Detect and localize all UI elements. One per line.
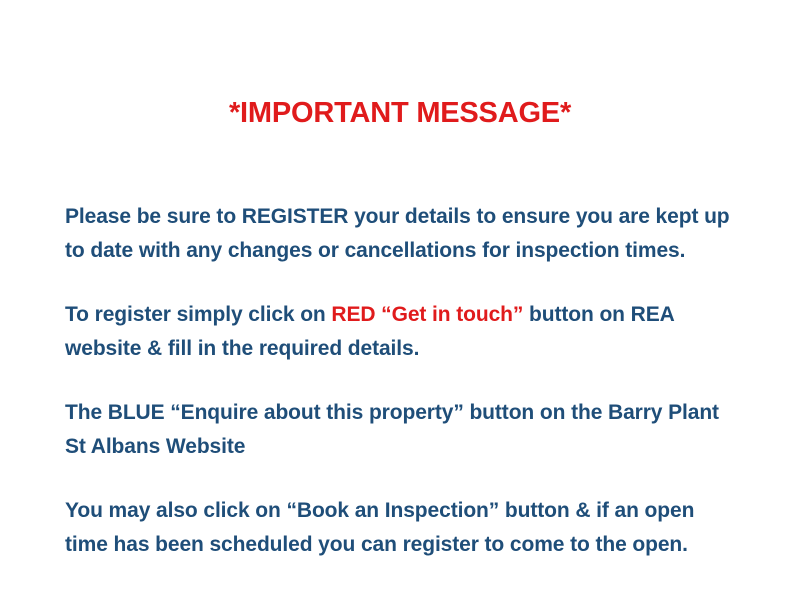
text-segment-book-an-inspection-0: You may also click on “Book an Inspectio… xyxy=(65,499,694,556)
text-segment-rea-get-in-touch-0: To register simply click on xyxy=(65,303,331,326)
slide-body: Please be sure to REGISTER your details … xyxy=(65,200,735,562)
text-segment-register-details-0: Please be sure to REGISTER your details … xyxy=(65,205,730,262)
slide-canvas: *IMPORTANT MESSAGE* Please be sure to RE… xyxy=(0,0,800,600)
paragraph-book-an-inspection: You may also click on “Book an Inspectio… xyxy=(65,494,735,562)
page-title: *IMPORTANT MESSAGE* xyxy=(0,98,800,130)
text-segment-rea-get-in-touch-1: RED “Get in touch” xyxy=(331,303,523,326)
text-segment-barry-plant-enquire-0: The BLUE “Enquire about this property” b… xyxy=(65,401,719,458)
paragraph-register-details: Please be sure to REGISTER your details … xyxy=(65,200,735,268)
paragraph-rea-get-in-touch: To register simply click on RED “Get in … xyxy=(65,298,735,366)
paragraph-barry-plant-enquire: The BLUE “Enquire about this property” b… xyxy=(65,396,735,464)
